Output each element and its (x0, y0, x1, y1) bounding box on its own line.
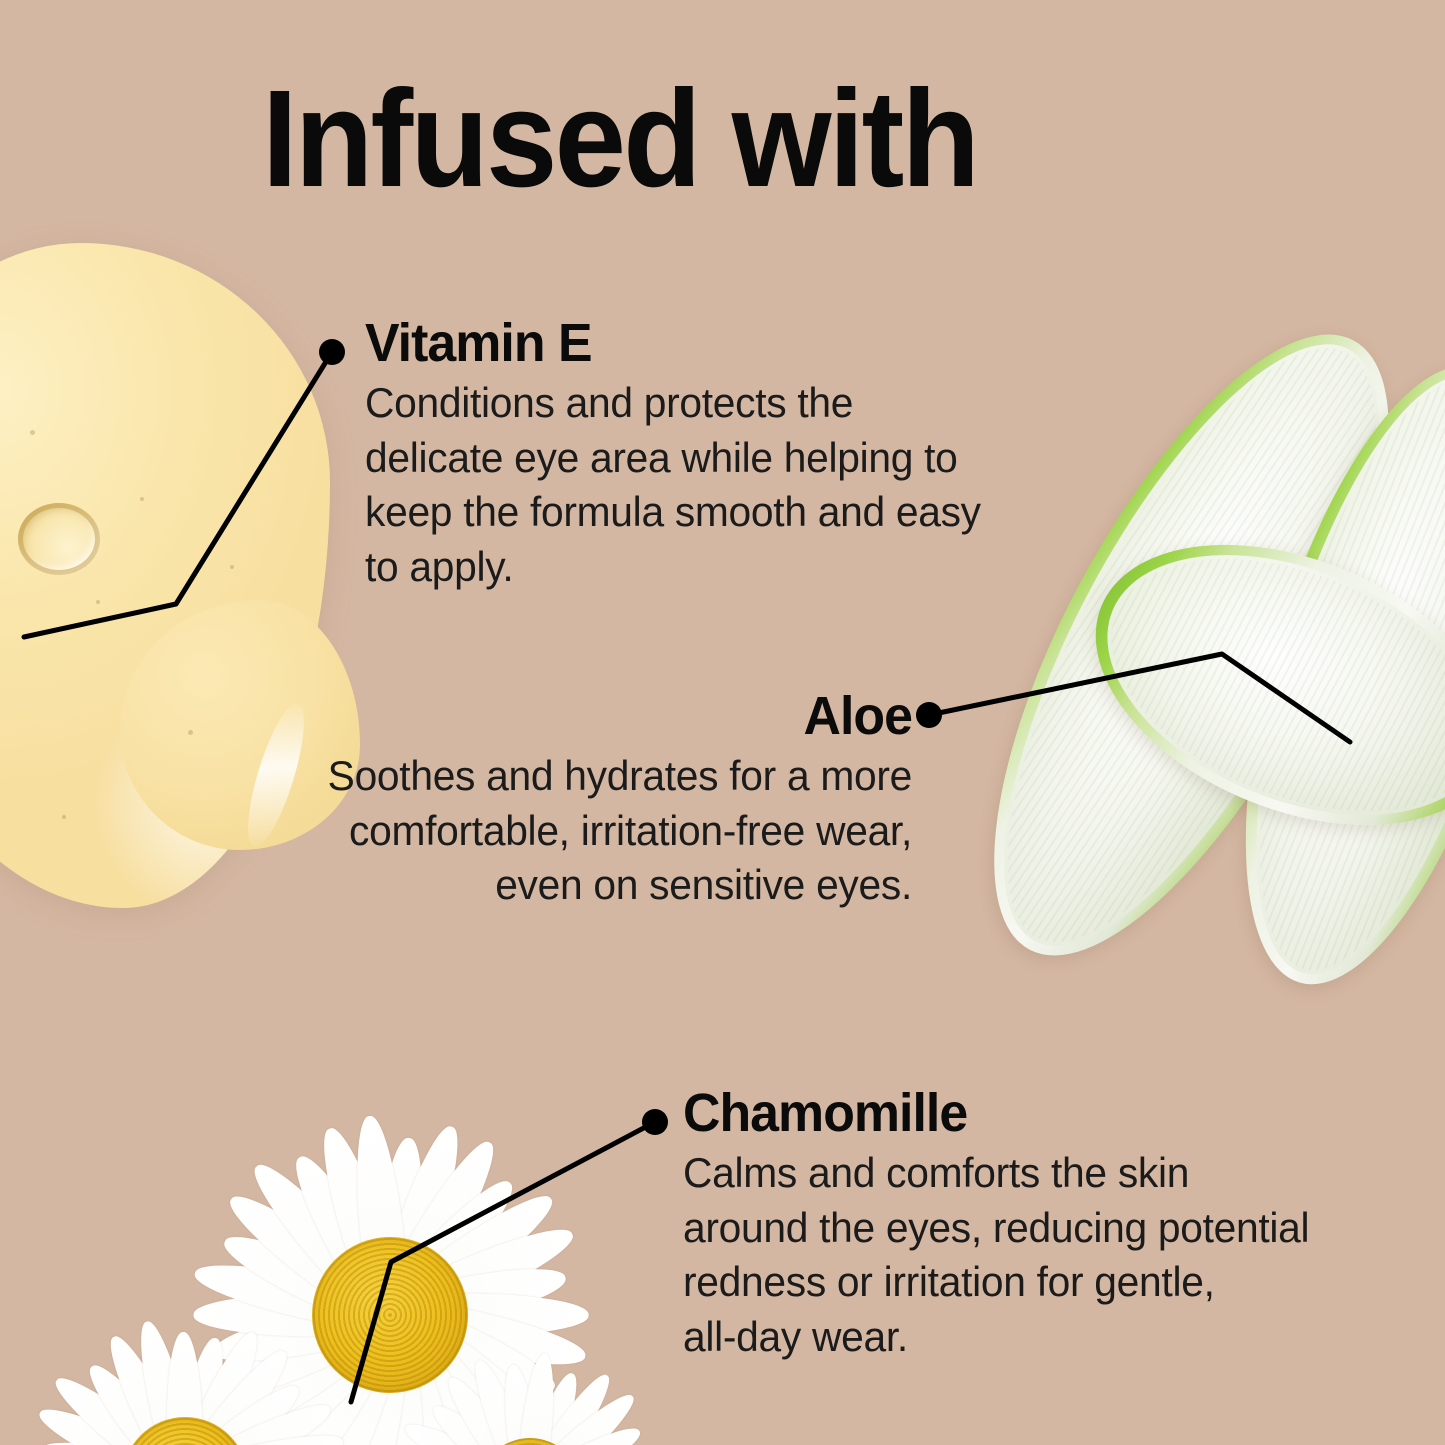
leader-dot-chamomille (642, 1109, 668, 1135)
ingredient-body-line: all-day wear. (683, 1310, 1362, 1365)
ingredient-body-line: to apply. (365, 540, 1005, 595)
ingredient-body-line: Soothes and hydrates for a more (309, 749, 912, 804)
ingredient-body-line: keep the formula smooth and easy (365, 485, 1005, 540)
infographic-canvas: Infused with Vitamin E Conditions and pr… (0, 0, 1445, 1445)
leader-line-chamomille (351, 1122, 655, 1402)
ingredient-body-line: comfortable, irritation-free wear, (309, 804, 912, 859)
ingredient-block-aloe: Aloe Soothes and hydrates for a morecomf… (290, 688, 912, 913)
ingredient-title-aloe: Aloe (315, 688, 912, 745)
ingredient-body-aloe: Soothes and hydrates for a morecomfortab… (309, 749, 912, 913)
ingredient-block-chamomille: Chamomille Calms and comforts the skinar… (683, 1085, 1383, 1365)
leader-line-aloe (929, 654, 1350, 742)
leader-dot-aloe (916, 702, 942, 728)
ingredient-body-line: delicate eye area while helping to (365, 431, 1005, 486)
ingredient-body-line: Calms and comforts the skin (683, 1146, 1362, 1201)
ingredient-title-chamomille: Chamomille (683, 1085, 1355, 1142)
ingredient-block-vitamin-e: Vitamin E Conditions and protects thedel… (365, 315, 1025, 595)
ingredient-body-vitamin-e: Conditions and protects thedelicate eye … (365, 376, 1005, 594)
ingredient-title-vitamin-e: Vitamin E (365, 315, 999, 372)
ingredient-body-line: even on sensitive eyes. (309, 858, 912, 913)
leader-dot-vitamin-e (319, 339, 345, 365)
page-title: Infused with (262, 70, 977, 208)
ingredient-body-line: redness or irritation for gentle, (683, 1255, 1362, 1310)
leader-line-vitamin-e (24, 352, 332, 637)
ingredient-body-line: Conditions and protects the (365, 376, 1005, 431)
ingredient-body-chamomille: Calms and comforts the skinaround the ey… (683, 1146, 1362, 1364)
ingredient-body-line: around the eyes, reducing potential (683, 1201, 1362, 1256)
